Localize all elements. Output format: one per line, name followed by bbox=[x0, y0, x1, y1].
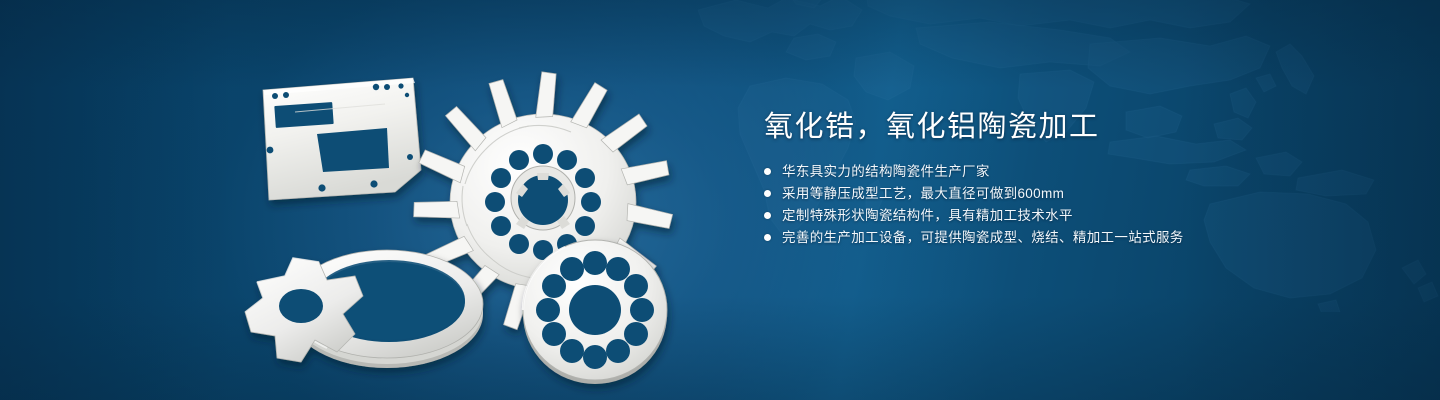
list-item: 华东具实力的结构陶瓷件生产厂家 bbox=[764, 164, 1364, 179]
list-item: 采用等静压成型工艺，最大直径可做到600mm bbox=[764, 186, 1364, 201]
banner-feature-list: 华东具实力的结构陶瓷件生产厂家 采用等静压成型工艺，最大直径可做到600mm 定… bbox=[764, 164, 1364, 245]
list-item: 完善的生产加工设备，可提供陶瓷成型、烧结、精加工一站式服务 bbox=[764, 230, 1364, 245]
bullet-dot-icon bbox=[764, 212, 771, 219]
list-item: 定制特殊形状陶瓷结构件，具有精加工技术水平 bbox=[764, 208, 1364, 223]
bullet-text: 定制特殊形状陶瓷结构件，具有精加工技术水平 bbox=[782, 208, 1073, 223]
banner-headline: 氧化锆，氧化铝陶瓷加工 bbox=[764, 110, 1364, 144]
bullet-dot-icon bbox=[764, 234, 771, 241]
bullet-text: 完善的生产加工设备，可提供陶瓷成型、烧结、精加工一站式服务 bbox=[782, 230, 1184, 245]
bullet-dot-icon bbox=[764, 190, 771, 197]
banner-copy-block: 氧化锆，氧化铝陶瓷加工 华东具实力的结构陶瓷件生产厂家 采用等静压成型工艺，最大… bbox=[764, 110, 1364, 252]
bullet-text: 华东具实力的结构陶瓷件生产厂家 bbox=[782, 164, 990, 179]
ceramic-processing-banner: 氧化锆，氧化铝陶瓷加工 华东具实力的结构陶瓷件生产厂家 采用等静压成型工艺，最大… bbox=[0, 0, 1440, 400]
bullet-text: 采用等静压成型工艺，最大直径可做到600mm bbox=[782, 186, 1064, 201]
bullet-dot-icon bbox=[764, 168, 771, 175]
